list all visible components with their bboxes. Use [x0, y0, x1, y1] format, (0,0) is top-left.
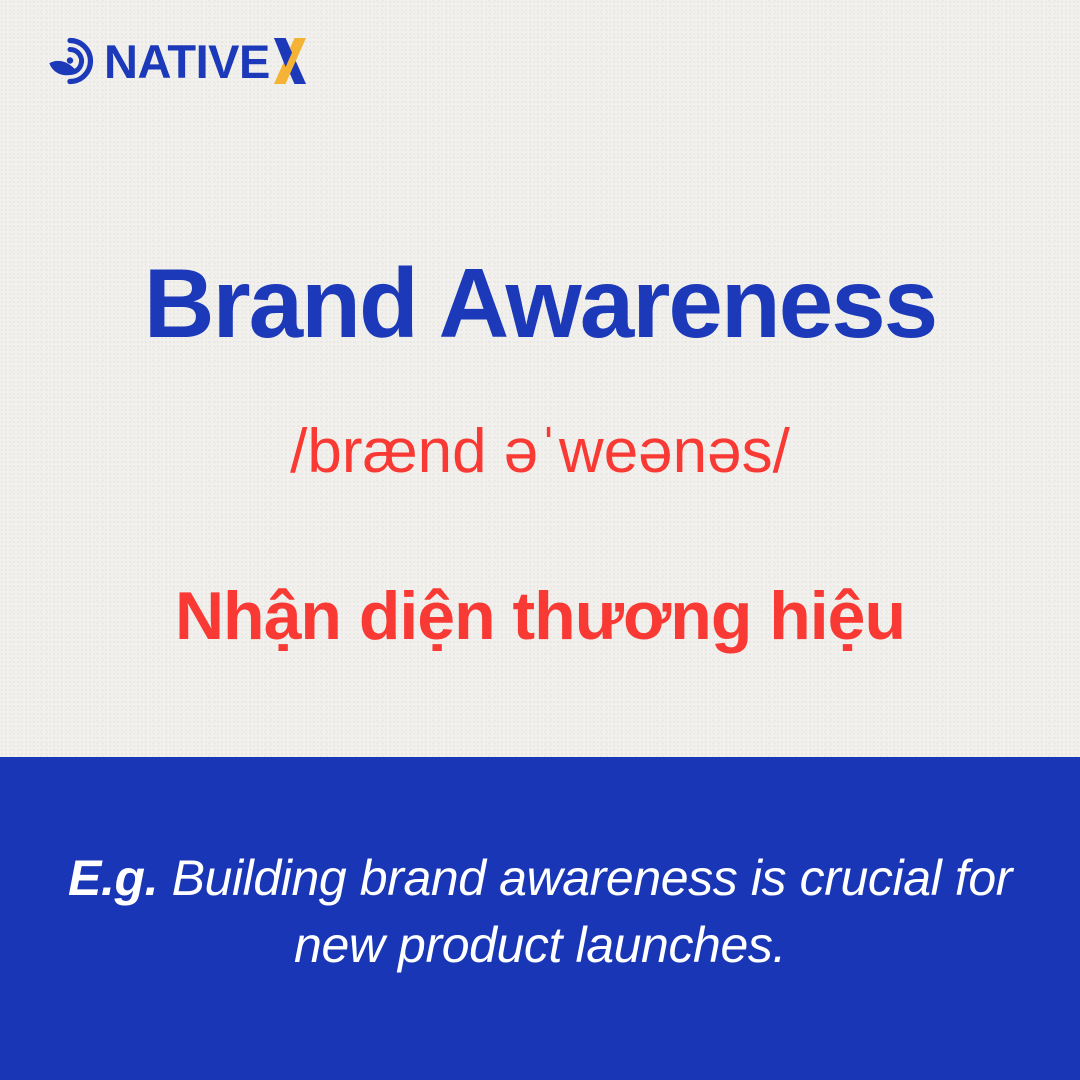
vietnamese-translation: Nhận diện thương hiệu — [175, 580, 905, 653]
example-band: E.g. Building brand awareness is crucial… — [0, 757, 1080, 1080]
vocabulary-card: NATIVE Brand Awareness /brænd əˈweənəs/ … — [0, 0, 1080, 1080]
nativex-wordmark: NATIVE — [104, 37, 309, 85]
example-sentence: E.g. Building brand awareness is crucial… — [0, 757, 1080, 979]
term-title: Brand Awareness — [144, 252, 936, 355]
logo-accent-x-icon — [271, 37, 309, 85]
logo-text: NATIVE — [104, 38, 270, 85]
example-prefix: E.g. — [68, 850, 158, 906]
vocabulary-block: Brand Awareness /brænd əˈweənəs/ Nhận di… — [0, 150, 1080, 756]
nativex-circle-swoosh-icon — [45, 36, 95, 86]
ipa-pronunciation: /brænd əˈweənəs/ — [290, 419, 790, 484]
example-text: Building brand awareness is crucial for … — [172, 850, 1012, 973]
nativex-logo[interactable]: NATIVE — [45, 36, 309, 86]
